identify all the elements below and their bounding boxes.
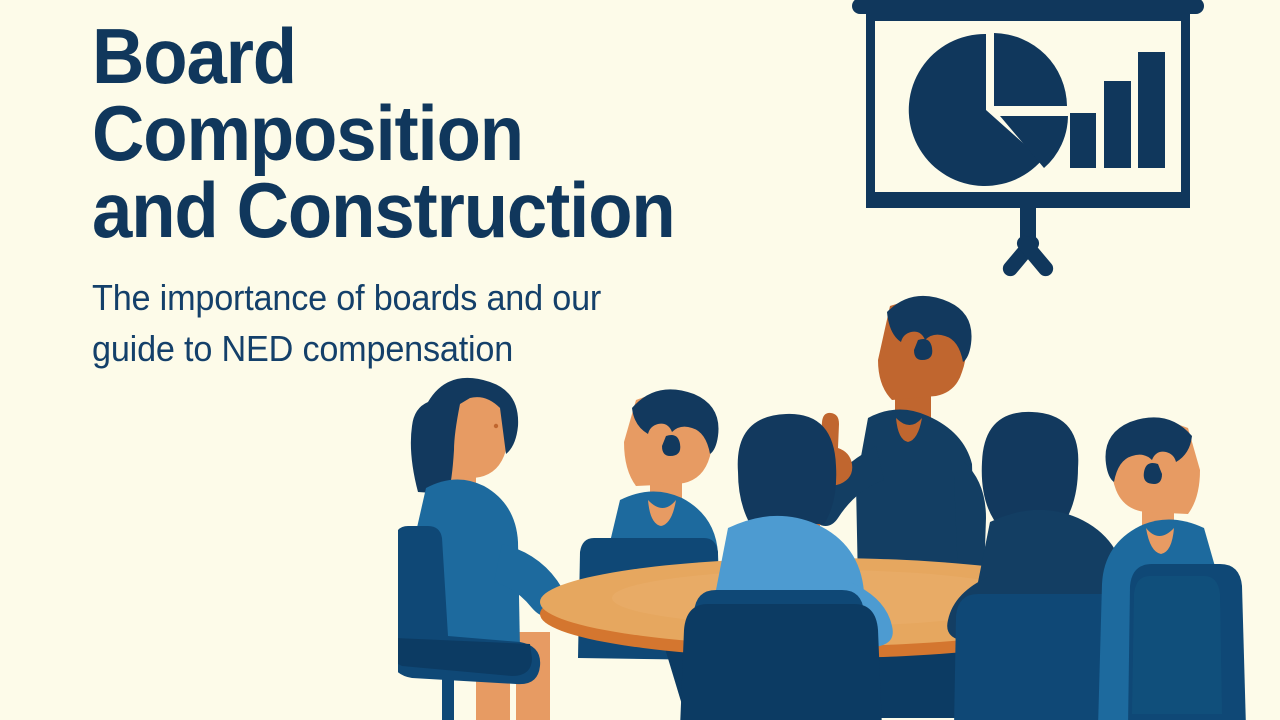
- figure-seated-woman-left: [398, 378, 592, 720]
- chair-post-left: [442, 672, 454, 720]
- figure-seated-man-right: [1098, 417, 1246, 720]
- bar-2: [1104, 81, 1131, 168]
- board-bottom-rail: [866, 192, 1190, 206]
- bar-1: [1070, 113, 1096, 168]
- hero-text-block: Board Composition and Construction The i…: [92, 18, 892, 374]
- poster-canvas: Board Composition and Construction The i…: [0, 0, 1280, 720]
- presentation-board-icon: [848, 0, 1208, 296]
- chair-front-center: [680, 604, 882, 720]
- page-title: Board Composition and Construction: [92, 18, 836, 250]
- bar-3: [1138, 52, 1165, 168]
- board-top-rail: [852, 0, 1204, 14]
- page-subtitle: The importance of boards and our guide t…: [92, 272, 852, 374]
